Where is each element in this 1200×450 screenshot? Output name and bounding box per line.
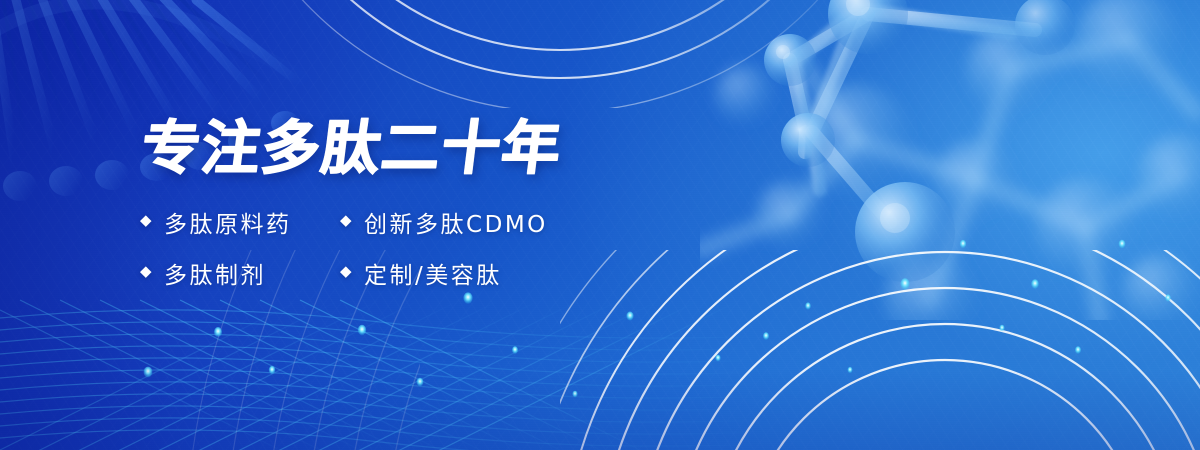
banner-headline: 专注多肽二十年: [138, 118, 703, 179]
banner-content: 专注多肽二十年 ◆ 多肽原料药 ◆ 创新多肽CDMO ◆ 多肽制剂 ◆ 定制/美…: [140, 118, 700, 290]
feature-label: 多肽原料药: [164, 205, 292, 239]
feature-label: 创新多肽CDMO: [364, 205, 548, 239]
feature-item-api: ◆ 多肽原料药: [140, 205, 340, 239]
feature-item-cdmo: ◆ 创新多肽CDMO: [340, 205, 700, 239]
feature-label: 定制/美容肽: [364, 256, 502, 290]
diamond-bullet-icon: ◆: [140, 213, 154, 228]
feature-item-formulation: ◆ 多肽制剂: [140, 256, 340, 290]
diamond-bullet-icon: ◆: [340, 264, 354, 279]
feature-label: 多肽制剂: [164, 256, 266, 290]
diamond-bullet-icon: ◆: [340, 213, 354, 228]
feature-item-custom-cosmetic: ◆ 定制/美容肽: [340, 256, 700, 290]
hero-banner: 专注多肽二十年 ◆ 多肽原料药 ◆ 创新多肽CDMO ◆ 多肽制剂 ◆ 定制/美…: [0, 0, 1200, 450]
feature-list: ◆ 多肽原料药 ◆ 创新多肽CDMO ◆ 多肽制剂 ◆ 定制/美容肽: [140, 205, 700, 290]
diamond-bullet-icon: ◆: [140, 264, 154, 279]
